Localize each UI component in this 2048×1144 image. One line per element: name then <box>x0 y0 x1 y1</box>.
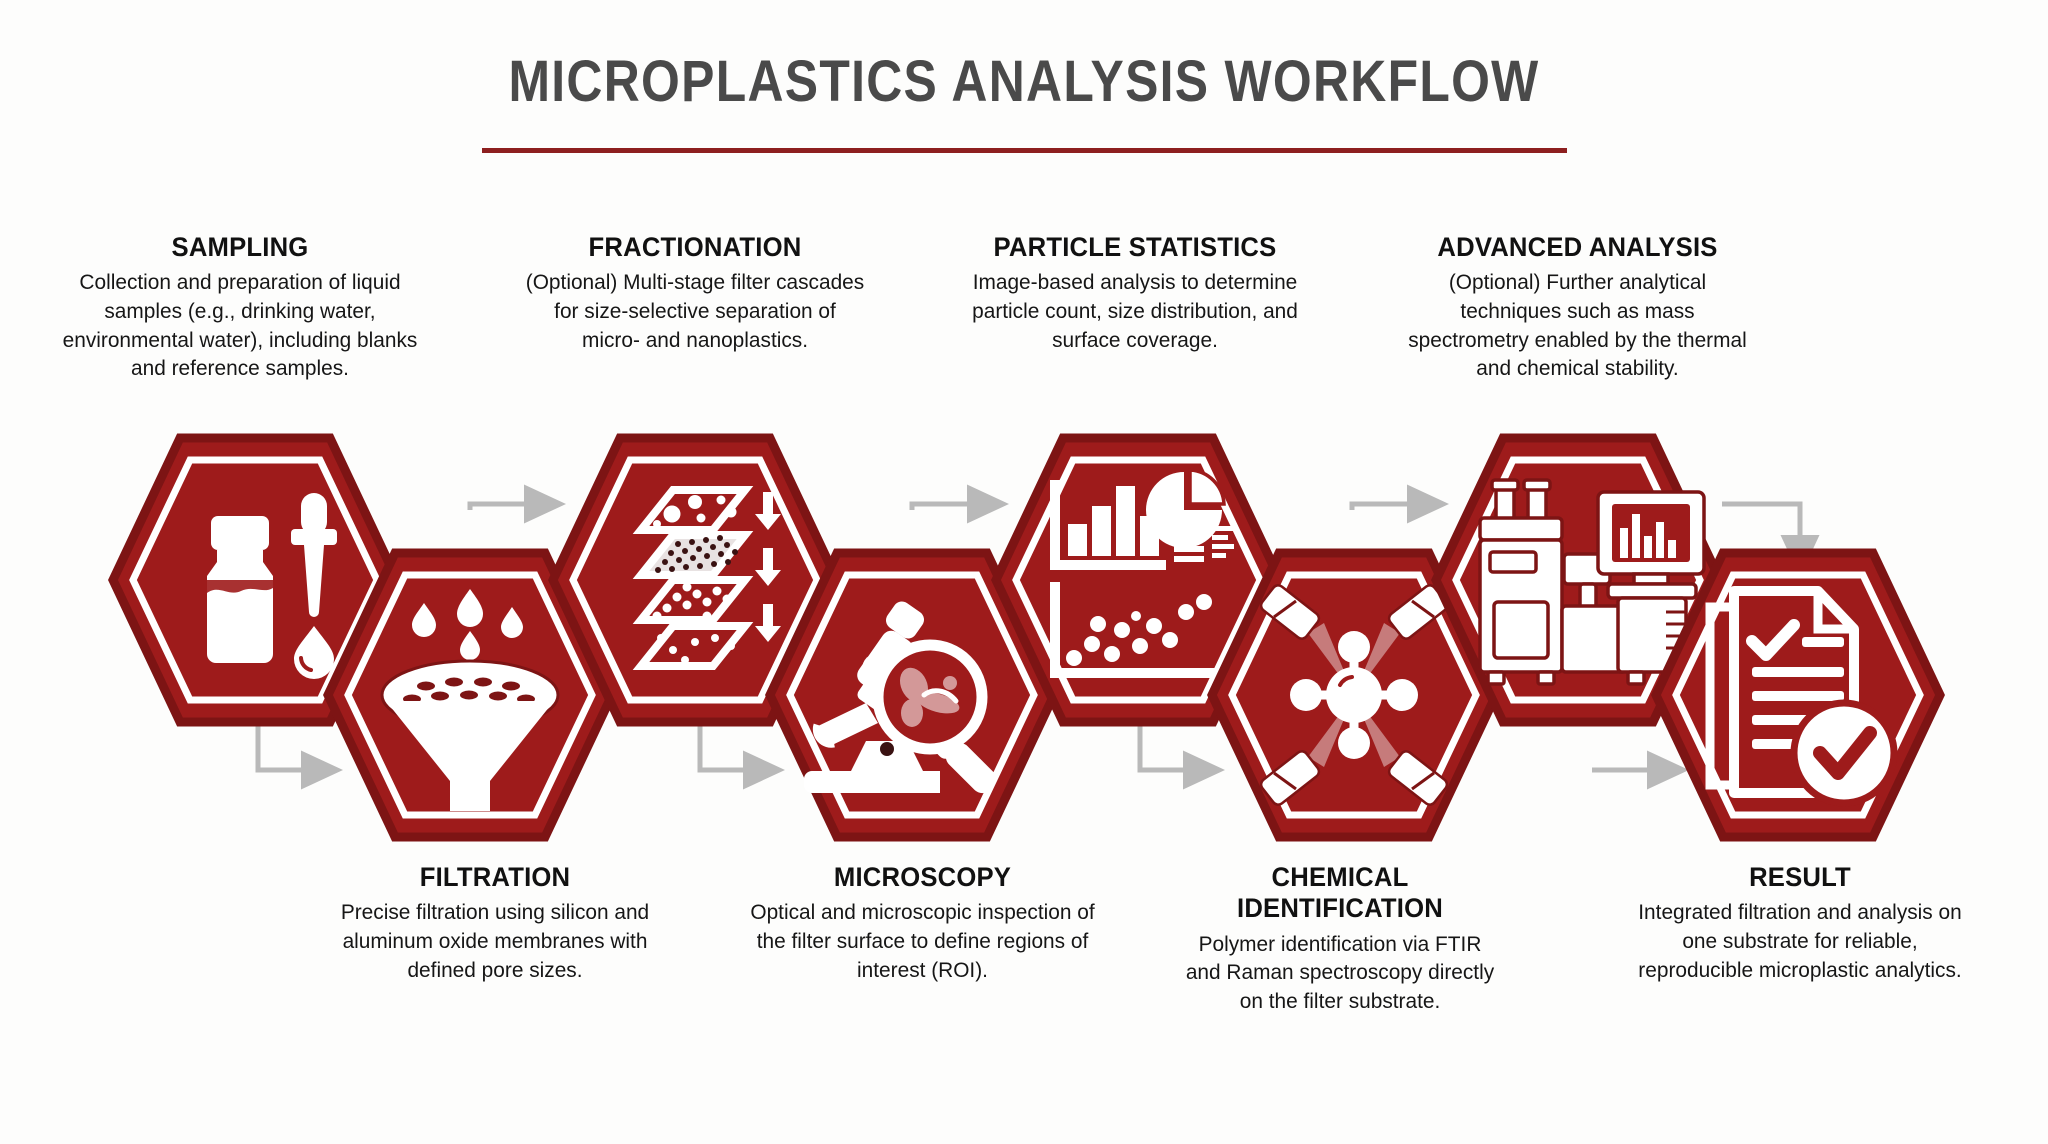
step-text-chemical-identification: CHEMICAL IDENTIFICATION Polymer identifi… <box>1180 862 1500 1015</box>
hex-step-result[interactable] <box>1648 545 1948 845</box>
step-description: Collection and preparation of liquid sam… <box>46 268 434 382</box>
step-text-particle-statistics: PARTICLE STATISTICS Image-based analysis… <box>955 232 1315 354</box>
step-text-filtration: FILTRATION Precise filtration using sili… <box>305 862 685 984</box>
step-title: FRACTIONATION <box>529 232 862 263</box>
step-title: ADVANCED ANALYSIS <box>1404 232 1751 263</box>
step-text-microscopy: MICROSCOPY Optical and microscopic inspe… <box>745 862 1100 984</box>
step-description: Polymer identification via FTIR and Rama… <box>1185 930 1495 1016</box>
step-title: SAMPLING <box>50 232 430 263</box>
step-text-sampling: SAMPLING Collection and preparation of l… <box>40 232 440 383</box>
title-underline <box>482 148 1567 153</box>
step-description: (Optional) Multi-stage filter cascades f… <box>525 268 865 354</box>
step-title: PARTICLE STATISTICS <box>964 232 1306 263</box>
page-title-area: MICROPLASTICS ANALYSIS WORKFLOW <box>0 52 2048 113</box>
step-title: FILTRATION <box>315 862 676 893</box>
step-description: Precise filtration using silicon and alu… <box>311 898 680 984</box>
page-title: MICROPLASTICS ANALYSIS WORKFLOW <box>143 52 1904 113</box>
step-description: Image-based analysis to determine partic… <box>960 268 1309 354</box>
step-title: MICROSCOPY <box>754 862 1091 893</box>
step-text-fractionation: FRACTIONATION (Optional) Multi-stage fil… <box>520 232 870 354</box>
step-text-result: RESULT Integrated filtration and analysi… <box>1625 862 1975 984</box>
step-title: CHEMICAL IDENTIFICATION <box>1188 862 1492 925</box>
step-title: RESULT <box>1634 862 1967 893</box>
step-description: Optical and microscopic inspection of th… <box>750 898 1094 984</box>
step-text-advanced-analysis: ADVANCED ANALYSIS (Optional) Further ana… <box>1395 232 1760 383</box>
workflow-diagram: MICROPLASTICS ANALYSIS WORKFLOW <box>0 0 2048 1144</box>
step-description: Integrated filtration and analysis on on… <box>1630 898 1970 984</box>
step-description: (Optional) Further analytical techniques… <box>1400 268 1754 382</box>
